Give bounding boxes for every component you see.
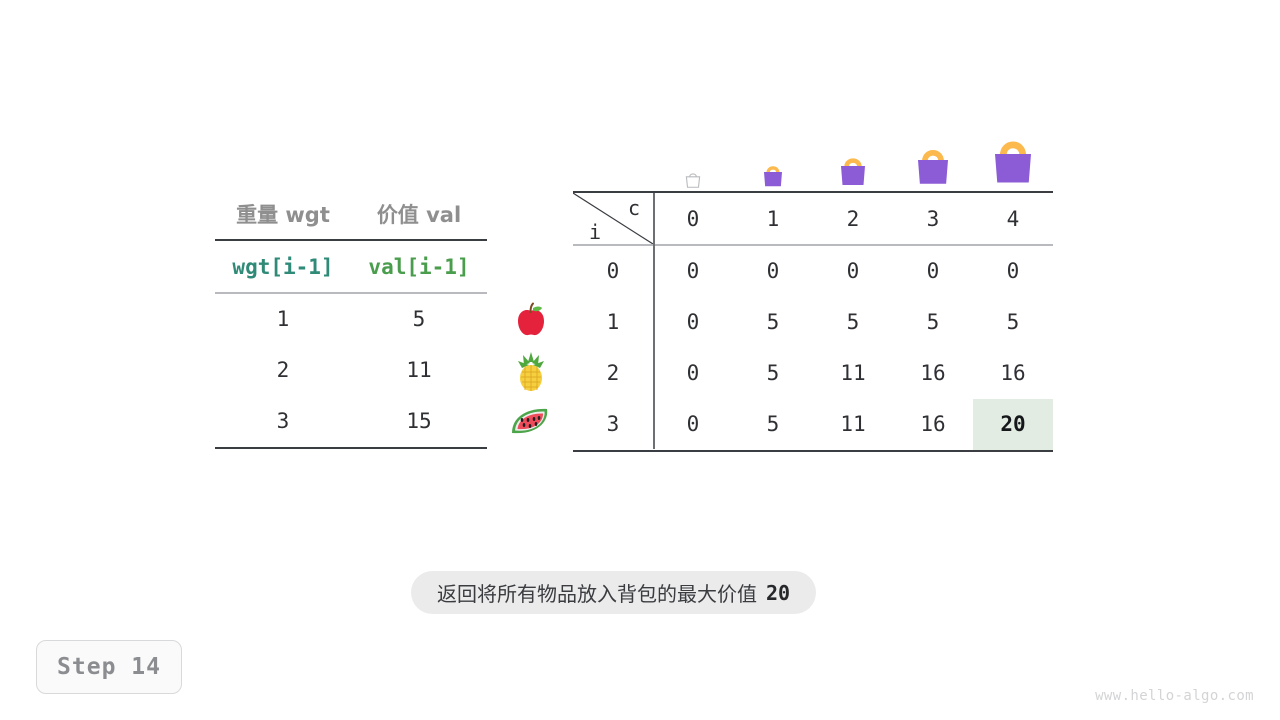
step-badge[interactable]: Step 14 bbox=[36, 640, 182, 694]
dp-cell-2-1: 5 bbox=[733, 348, 813, 399]
dp-cell-1-2: 5 bbox=[813, 297, 893, 348]
items-table-subheader-row: wgt[i-1] val[i-1] bbox=[215, 241, 487, 292]
dp-cell-1-1: 5 bbox=[733, 297, 813, 348]
dp-cell-0-3: 0 bbox=[893, 246, 973, 297]
dp-cell-0-1: 0 bbox=[733, 246, 813, 297]
fruit-slot-1 bbox=[500, 294, 562, 345]
bag-slot-4 bbox=[973, 120, 1053, 190]
knapsack-dp-visualization: { "items_table": { "headers": ["重量 wgt",… bbox=[0, 0, 1280, 720]
bag-icon-4 bbox=[983, 130, 1043, 190]
bag-icon-0 bbox=[682, 168, 704, 190]
items-table-header-row: 重量 wgt 价值 val bbox=[215, 188, 487, 239]
pineapple-icon bbox=[511, 350, 551, 392]
step-badge-label: Step 14 bbox=[57, 654, 161, 680]
dp-table: c i 0 1 2 3 4 0 0 0 0 0 0 1 0 5 5 5 5 2 … bbox=[573, 191, 1053, 452]
fruit-slot-2 bbox=[500, 345, 562, 396]
dp-cell-2-3: 16 bbox=[893, 348, 973, 399]
items-header-val-label: 价值 val bbox=[377, 203, 461, 227]
dp-cell-1-3: 5 bbox=[893, 297, 973, 348]
bag-slot-3 bbox=[893, 120, 973, 190]
dp-cell-0-4: 0 bbox=[973, 246, 1053, 297]
item-wgt-2: 2 bbox=[215, 358, 351, 382]
dp-cell-3-1: 5 bbox=[733, 399, 813, 450]
table-row: 1 5 bbox=[215, 294, 487, 345]
dp-col-header-0: 0 bbox=[653, 193, 733, 244]
bag-icon-2 bbox=[833, 150, 873, 190]
fruit-slot-3 bbox=[500, 396, 562, 447]
dp-table-bottom-rule bbox=[573, 450, 1053, 452]
dp-cell-3-2: 11 bbox=[813, 399, 893, 450]
dp-cell-0-0: 0 bbox=[653, 246, 733, 297]
dp-row-header-1: 1 bbox=[573, 297, 653, 348]
dp-col-header-2: 2 bbox=[813, 193, 893, 244]
bag-icon-row bbox=[653, 120, 1053, 190]
dp-cell-1-0: 0 bbox=[653, 297, 733, 348]
table-row: 3 0 5 11 16 20 bbox=[573, 399, 1053, 450]
apple-icon bbox=[511, 300, 551, 340]
item-val-3: 15 bbox=[351, 409, 487, 433]
bag-icon-3 bbox=[908, 140, 958, 190]
dp-corner-col-label: c bbox=[628, 196, 640, 220]
caption-value: 20 bbox=[766, 581, 790, 605]
caption-text: 返回将所有物品放入背包的最大价值 bbox=[437, 578, 757, 607]
dp-corner-row-label: i bbox=[589, 220, 601, 244]
watermark: www.hello-algo.com bbox=[1095, 688, 1254, 704]
items-table-bottom-rule bbox=[215, 447, 487, 449]
dp-cell-2-2: 11 bbox=[813, 348, 893, 399]
items-table: 重量 wgt 价值 val wgt[i-1] val[i-1] 1 5 2 11… bbox=[215, 188, 487, 449]
dp-cell-2-4: 16 bbox=[973, 348, 1053, 399]
dp-cell-2-0: 0 bbox=[653, 348, 733, 399]
item-val-2: 11 bbox=[351, 358, 487, 382]
diagonal-divider-icon bbox=[573, 193, 653, 244]
table-row: 0 0 0 0 0 0 bbox=[573, 246, 1053, 297]
dp-cell-3-3: 16 bbox=[893, 399, 973, 450]
dp-table-vertical-divider bbox=[653, 193, 655, 449]
watermelon-icon bbox=[509, 406, 553, 438]
dp-row-header-2: 2 bbox=[573, 348, 653, 399]
dp-cell-3-0: 0 bbox=[653, 399, 733, 450]
items-header-val: 价值 val bbox=[351, 199, 487, 229]
caption-banner: 返回将所有物品放入背包的最大价值 20 bbox=[411, 571, 816, 614]
items-subheader-val: val[i-1] bbox=[351, 255, 487, 279]
table-row: 2 0 5 11 16 16 bbox=[573, 348, 1053, 399]
items-header-wgt: 重量 wgt bbox=[215, 199, 351, 229]
items-subheader-wgt: wgt[i-1] bbox=[215, 255, 351, 279]
bag-slot-0 bbox=[653, 120, 733, 190]
table-row: 1 0 5 5 5 5 bbox=[573, 297, 1053, 348]
table-row: 3 15 bbox=[215, 396, 487, 447]
fruit-column bbox=[500, 294, 562, 447]
item-val-1: 5 bbox=[351, 307, 487, 331]
dp-col-header-4: 4 bbox=[973, 193, 1053, 244]
bag-slot-1 bbox=[733, 120, 813, 190]
dp-cell-3-4-highlighted: 20 bbox=[973, 399, 1053, 450]
dp-row-header-0: 0 bbox=[573, 246, 653, 297]
item-wgt-3: 3 bbox=[215, 409, 351, 433]
bag-slot-2 bbox=[813, 120, 893, 190]
dp-cell-1-4: 5 bbox=[973, 297, 1053, 348]
dp-table-header-row: c i 0 1 2 3 4 bbox=[573, 193, 1053, 244]
dp-corner-cell: c i bbox=[573, 193, 653, 244]
table-row: 2 11 bbox=[215, 345, 487, 396]
dp-row-header-3: 3 bbox=[573, 399, 653, 450]
bag-icon-1 bbox=[758, 160, 788, 190]
items-table-body: 1 5 2 11 3 15 bbox=[215, 294, 487, 447]
item-wgt-1: 1 bbox=[215, 307, 351, 331]
items-header-wgt-label: 重量 wgt bbox=[236, 203, 330, 227]
dp-cell-0-2: 0 bbox=[813, 246, 893, 297]
dp-col-header-1: 1 bbox=[733, 193, 813, 244]
dp-col-header-3: 3 bbox=[893, 193, 973, 244]
